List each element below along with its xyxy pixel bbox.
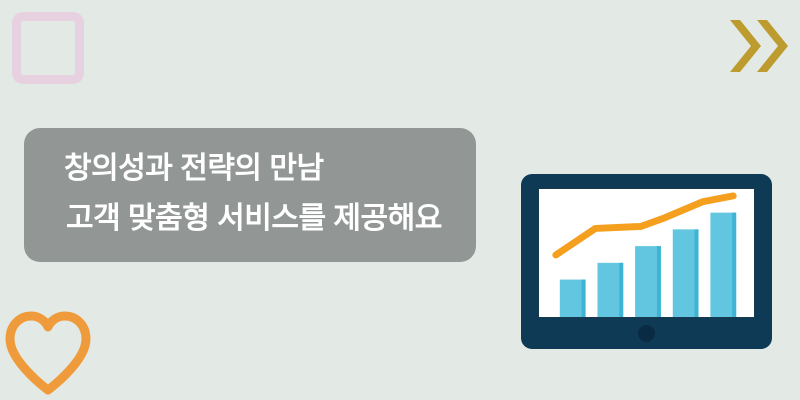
bar-chart-graphic [539,189,754,317]
tablet-illustration [521,174,772,349]
tablet-screen [538,188,755,318]
heart-outline-icon [2,306,94,398]
bar-4-edge [695,229,699,317]
headline-line-1: 창의성과 전략의 만남 [46,144,454,194]
rounded-square-outline-icon [12,12,84,84]
double-chevron-right-icon [730,18,788,74]
bar-5-edge [732,213,736,317]
tablet-home-button [638,325,655,342]
banner-canvas: 창의성과 전략의 만남 고객 맞춤형 서비스를 제공해요 [0,0,800,400]
headline-line-2: 고객 맞춤형 서비스를 제공해요 [46,194,454,244]
chart-bars [560,213,736,317]
headline-plate: 창의성과 전략의 만남 고객 맞춤형 서비스를 제공해요 [24,128,476,262]
bar-3-edge [657,246,661,317]
bar-2-edge [619,263,623,317]
bar-1-edge [582,280,586,317]
